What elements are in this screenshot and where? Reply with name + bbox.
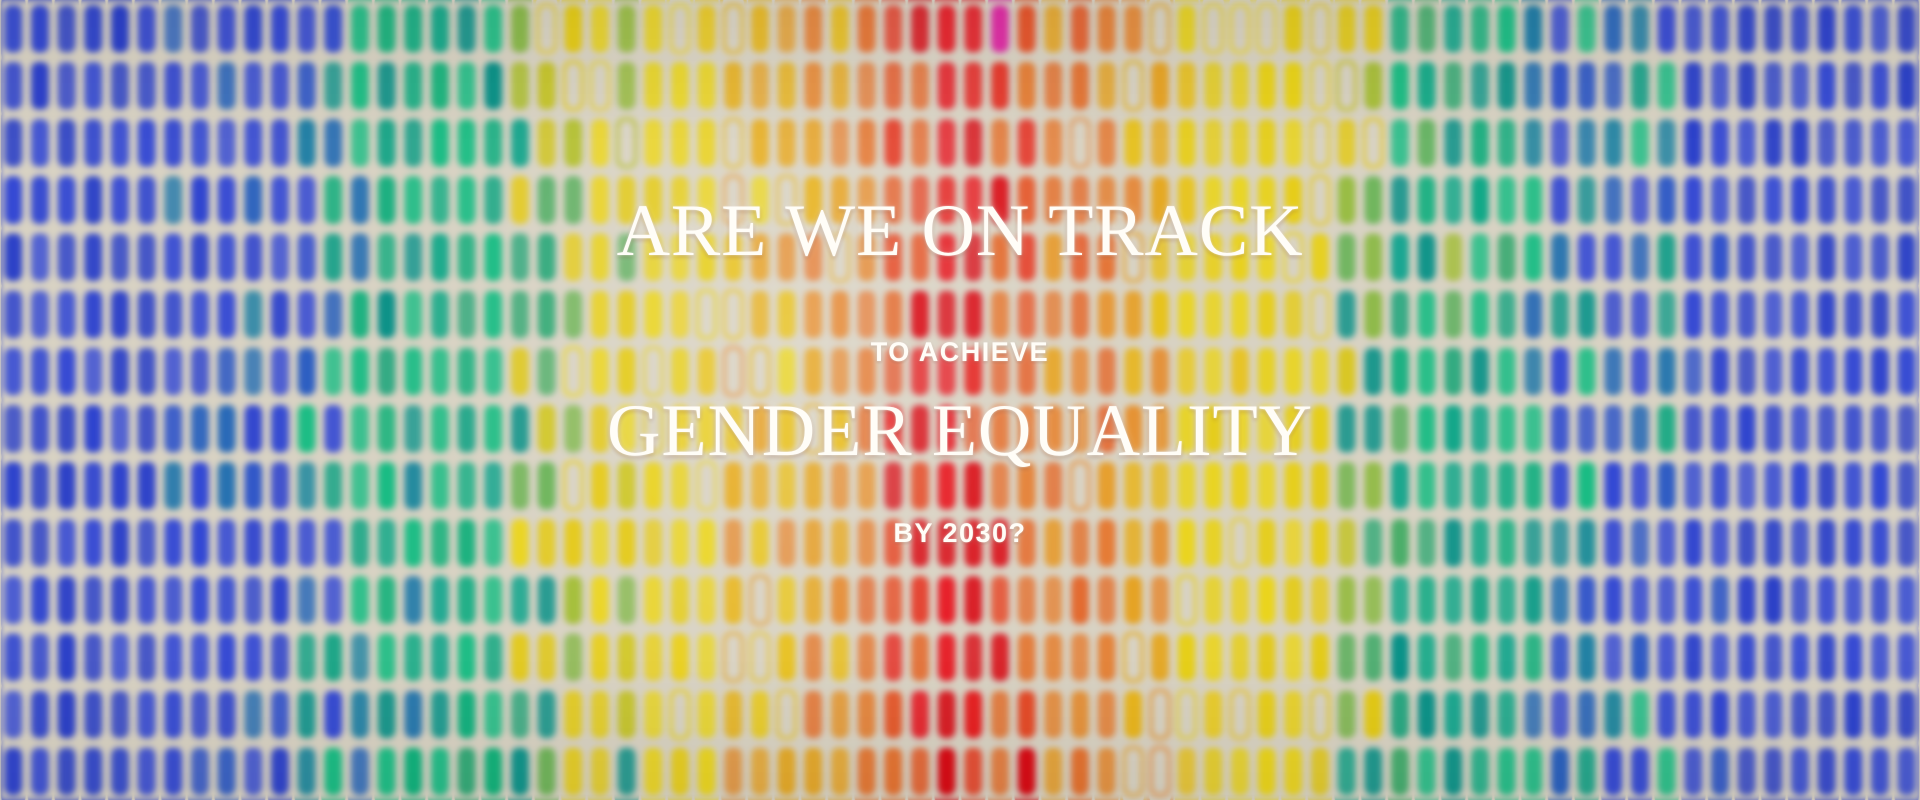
- poster-canvas: ARE WE ON TRACK TO ACHIEVE GENDER EQUALI…: [0, 0, 1920, 800]
- background-pattern-blurred: [0, 0, 1920, 800]
